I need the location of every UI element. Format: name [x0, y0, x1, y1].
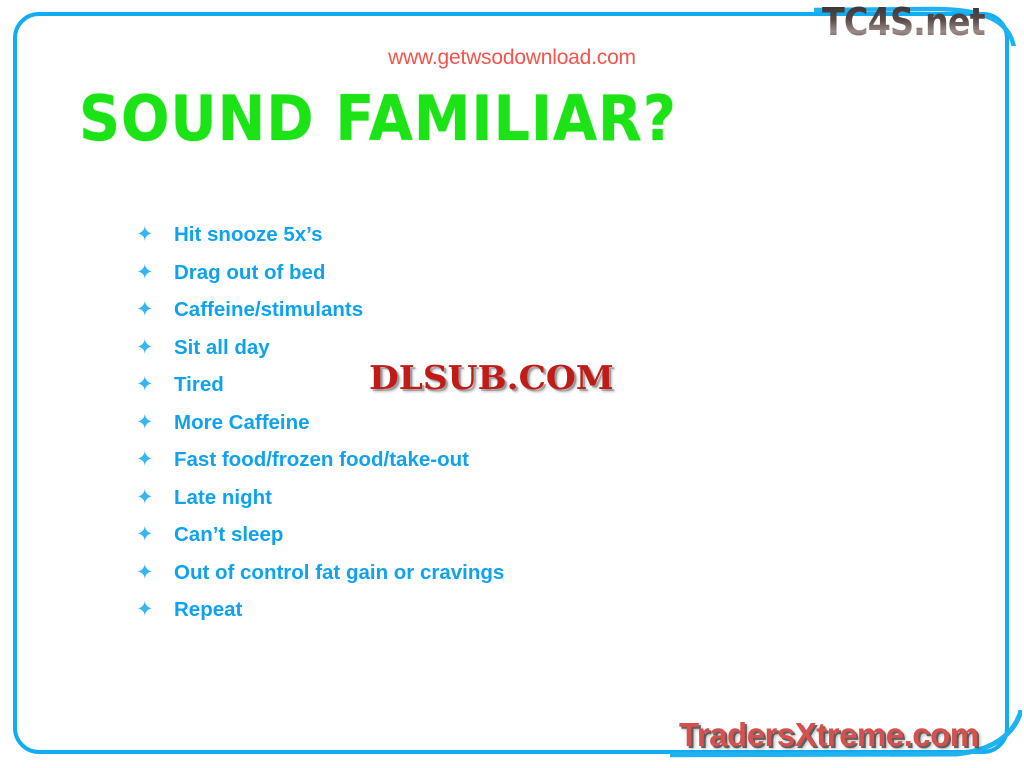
slide-title: SOUND FAMILIAR?: [79, 86, 677, 152]
sparkle-bullet-icon: ✦: [136, 332, 174, 362]
tradersxtreme-logo-text: TradersXtreme.com: [679, 714, 979, 756]
sparkle-bullet-icon: ✦: [136, 482, 174, 512]
sparkle-bullet-icon: ✦: [136, 557, 174, 587]
dlsub-watermark: DLSUB.COM: [369, 358, 614, 398]
sparkle-bullet-icon: ✦: [136, 294, 174, 324]
list-item-label: Sit all day: [174, 333, 270, 363]
list-item-label: Hit snooze 5x’s: [174, 220, 322, 250]
list-item: ✦ More Caffeine: [136, 407, 776, 445]
list-item-label: Fast food/frozen food/take-out: [174, 445, 469, 475]
list-item: ✦ Drag out of bed: [136, 257, 776, 295]
bullet-list: ✦ Hit snooze 5x’s ✦ Drag out of bed ✦ Ca…: [136, 219, 776, 632]
sparkle-bullet-icon: ✦: [136, 594, 174, 624]
list-item: ✦ Repeat: [136, 594, 776, 632]
list-item: ✦ Late night: [136, 482, 776, 520]
list-item: ✦ Caffeine/stimulants: [136, 294, 776, 332]
list-item-label: Caffeine/stimulants: [174, 295, 363, 325]
list-item: ✦ Hit snooze 5x’s: [136, 219, 776, 257]
sparkle-bullet-icon: ✦: [136, 257, 174, 287]
list-item: ✦ Fast food/frozen food/take-out: [136, 444, 776, 482]
sparkle-bullet-icon: ✦: [136, 369, 174, 399]
list-item-label: Repeat: [174, 595, 242, 625]
source-url-header: www.getwsodownload.com: [0, 46, 1024, 70]
list-item-label: Out of control fat gain or cravings: [174, 558, 504, 588]
list-item-label: Can’t sleep: [174, 520, 283, 550]
tc4s-logo-text: TC4S.net: [822, 0, 985, 44]
list-item-label: Drag out of bed: [174, 258, 325, 288]
sparkle-bullet-icon: ✦: [136, 219, 174, 249]
tc4s-logo: TC4S.net: [814, 0, 1024, 46]
list-item-label: Late night: [174, 483, 272, 513]
sparkle-bullet-icon: ✦: [136, 444, 174, 474]
sparkle-bullet-icon: ✦: [136, 519, 174, 549]
sparkle-bullet-icon: ✦: [136, 407, 174, 437]
slide-canvas: www.getwsodownload.com SOUND FAMILIAR? ✦…: [0, 0, 1024, 768]
tradersxtreme-logo: TradersXtreme.com: [670, 710, 1022, 762]
list-item: ✦ Can’t sleep: [136, 519, 776, 557]
list-item-label: Tired: [174, 370, 224, 400]
list-item-label: More Caffeine: [174, 408, 310, 438]
list-item: ✦ Out of control fat gain or cravings: [136, 557, 776, 595]
